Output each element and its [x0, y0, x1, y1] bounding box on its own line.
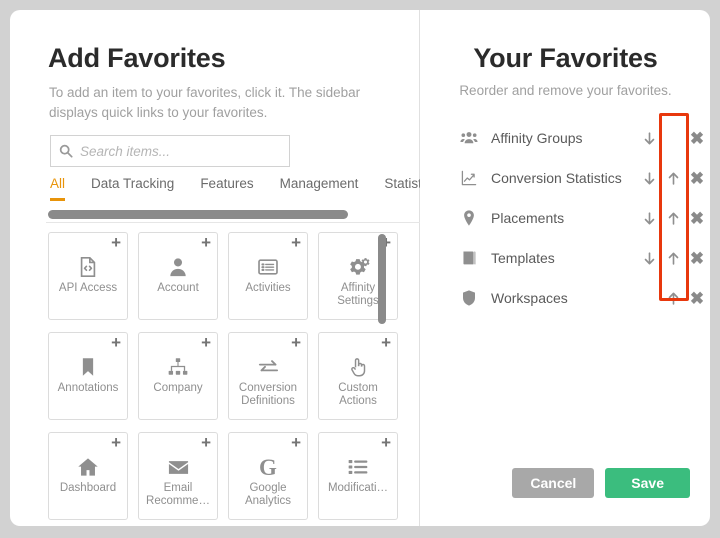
move-down-icon[interactable]: [637, 166, 661, 190]
favorite-actions: ✖: [631, 166, 709, 190]
available-items-grid: +API Access+Account+Activities+Affinity …: [48, 232, 408, 526]
list-box-icon: [255, 255, 281, 279]
add-plus-icon[interactable]: +: [291, 235, 301, 250]
available-items-grid-area: +API Access+Account+Activities+Affinity …: [46, 228, 420, 526]
grid-item[interactable]: +Email Recomme…: [138, 432, 218, 520]
favorite-label[interactable]: Affinity Groups: [491, 130, 631, 146]
remove-x-glyph: ✖: [690, 290, 704, 307]
tab-features[interactable]: Features: [200, 175, 253, 201]
grid-item[interactable]: +API Access: [48, 232, 128, 320]
favorites-dialog: Add Favorites To add an item to your fav…: [10, 10, 710, 526]
grid-item-label: API Access: [50, 282, 126, 295]
favorites-list: Affinity Groups✖Conversion Statistics✖Pl…: [459, 118, 709, 318]
envelope-icon: [165, 455, 191, 479]
favorite-row: Affinity Groups✖: [459, 118, 709, 158]
favorite-row: Workspaces✖: [459, 278, 709, 318]
pointing-hand-icon: [345, 355, 371, 379]
tab-management[interactable]: Management: [280, 175, 359, 201]
line-chart-icon: [459, 169, 479, 187]
tabs-scrollbar-thumb[interactable]: [48, 210, 348, 219]
remove-x-glyph: ✖: [690, 130, 704, 147]
grid-item-label: Email Recomme…: [140, 482, 216, 508]
favorite-actions: ✖: [631, 126, 709, 150]
remove-favorite-icon[interactable]: ✖: [685, 206, 709, 230]
google-g-icon: G: [255, 455, 281, 479]
add-plus-icon[interactable]: +: [201, 235, 211, 250]
grid-item[interactable]: +Modificati…: [318, 432, 398, 520]
book-icon: [459, 249, 479, 267]
add-favorites-panel: Add Favorites To add an item to your fav…: [10, 10, 420, 526]
grid-item[interactable]: +GGoogle Analytics: [228, 432, 308, 520]
favorite-label[interactable]: Placements: [491, 210, 631, 226]
grid-item[interactable]: +Conversion Definitions: [228, 332, 308, 420]
gears-icon: [345, 255, 371, 279]
grid-scrollbar-thumb[interactable]: [378, 234, 386, 324]
move-up-icon[interactable]: [661, 206, 685, 230]
grid-item[interactable]: +Affinity Settings: [318, 232, 398, 320]
add-favorites-title: Add Favorites: [48, 43, 225, 74]
user-icon: [165, 255, 191, 279]
grid-item-label: Account: [140, 282, 216, 295]
map-marker-icon: [459, 209, 479, 227]
cancel-button[interactable]: Cancel: [512, 468, 594, 498]
grid-item[interactable]: +Company: [138, 332, 218, 420]
dialog-footer: Cancel Save: [421, 468, 700, 498]
grid-scrollbar-track[interactable]: [378, 232, 386, 526]
grid-item-label: Company: [140, 382, 216, 395]
add-plus-icon[interactable]: +: [111, 235, 121, 250]
grid-item[interactable]: +Account: [138, 232, 218, 320]
grid-item[interactable]: +Activities: [228, 232, 308, 320]
favorite-actions: ✖: [631, 206, 709, 230]
favorite-row: Placements✖: [459, 198, 709, 238]
add-plus-icon[interactable]: +: [291, 335, 301, 350]
add-plus-icon[interactable]: +: [201, 435, 211, 450]
search-input[interactable]: [80, 144, 281, 159]
favorite-actions: ✖: [631, 246, 709, 270]
home-icon: [75, 455, 101, 479]
add-plus-icon[interactable]: +: [291, 435, 301, 450]
search-icon: [59, 144, 73, 158]
remove-favorite-icon[interactable]: ✖: [685, 286, 709, 310]
move-down-icon[interactable]: [637, 246, 661, 270]
category-tabs: AllData TrackingFeaturesManagementStatis…: [50, 175, 420, 203]
remove-x-glyph: ✖: [690, 170, 704, 187]
add-plus-icon[interactable]: +: [201, 335, 211, 350]
remove-favorite-icon[interactable]: ✖: [685, 126, 709, 150]
your-favorites-title: Your Favorites: [421, 43, 710, 74]
tab-data-tracking[interactable]: Data Tracking: [91, 175, 174, 201]
move-down-icon[interactable]: [637, 206, 661, 230]
exchange-arrows-icon: [255, 355, 281, 379]
bookmark-icon: [75, 355, 101, 379]
grid-item[interactable]: +Dashboard: [48, 432, 128, 520]
file-code-icon: [75, 255, 101, 279]
move-down-placeholder: [637, 286, 661, 310]
favorite-actions: ✖: [631, 286, 709, 310]
sitemap-icon: [165, 355, 191, 379]
add-favorites-subtitle: To add an item to your favorites, click …: [49, 83, 379, 122]
tabs-scrollbar-track[interactable]: [46, 210, 420, 219]
users-group-icon: [459, 129, 479, 147]
tab-all[interactable]: All: [50, 175, 65, 201]
save-button[interactable]: Save: [605, 468, 690, 498]
tabs-divider: [46, 222, 420, 223]
favorite-label[interactable]: Conversion Statistics: [491, 170, 631, 186]
move-up-placeholder: [661, 126, 685, 150]
add-plus-icon[interactable]: +: [111, 335, 121, 350]
your-favorites-panel: Your Favorites Reorder and remove your f…: [421, 10, 710, 526]
grid-item-label: Annotations: [50, 382, 126, 395]
grid-item[interactable]: +Custom Actions: [318, 332, 398, 420]
search-box[interactable]: [50, 135, 290, 167]
remove-x-glyph: ✖: [690, 250, 704, 267]
list-ul-icon: [345, 455, 371, 479]
your-favorites-subtitle: Reorder and remove your favorites.: [421, 83, 710, 98]
grid-item-label: Dashboard: [50, 482, 126, 495]
favorite-row: Templates✖: [459, 238, 709, 278]
add-plus-icon[interactable]: +: [111, 435, 121, 450]
move-down-icon[interactable]: [637, 126, 661, 150]
grid-item-label: Google Analytics: [230, 482, 306, 508]
move-up-icon[interactable]: [661, 246, 685, 270]
favorite-row: Conversion Statistics✖: [459, 158, 709, 198]
tab-statistics[interactable]: Statistics: [384, 175, 420, 201]
move-up-icon[interactable]: [661, 166, 685, 190]
grid-item[interactable]: +Annotations: [48, 332, 128, 420]
favorite-label[interactable]: Workspaces: [491, 290, 631, 306]
remove-favorite-icon[interactable]: ✖: [685, 246, 709, 270]
move-up-icon[interactable]: [661, 286, 685, 310]
remove-x-glyph: ✖: [690, 210, 704, 227]
remove-favorite-icon[interactable]: ✖: [685, 166, 709, 190]
favorite-label[interactable]: Templates: [491, 250, 631, 266]
grid-item-label: Activities: [230, 282, 306, 295]
grid-item-label: Conversion Definitions: [230, 382, 306, 408]
shield-icon: [459, 289, 479, 307]
